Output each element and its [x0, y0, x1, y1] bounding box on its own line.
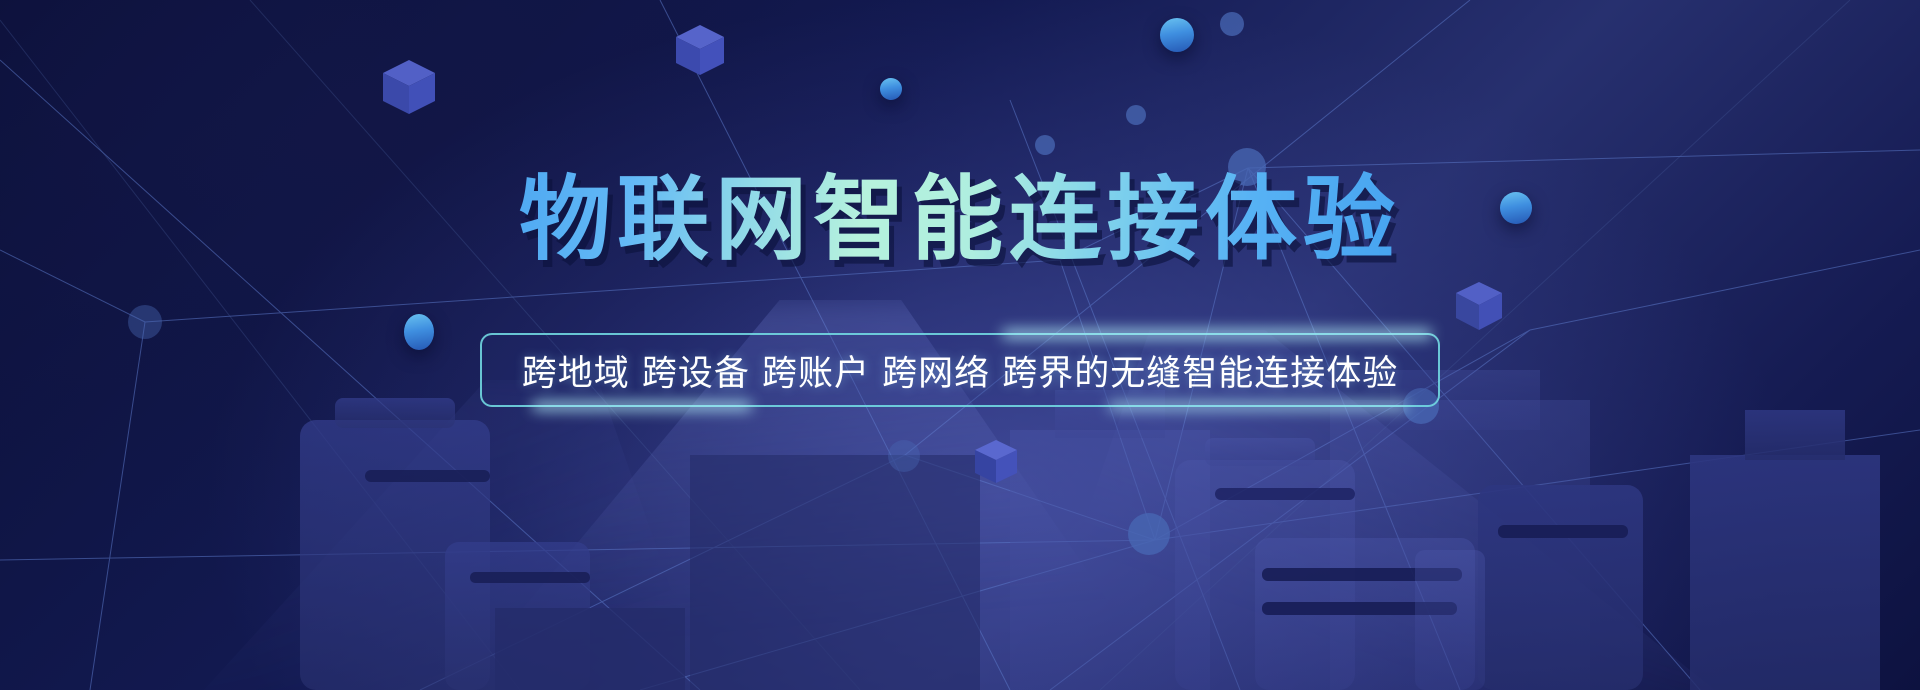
network-node-2 — [1220, 12, 1244, 36]
network-node-3 — [1126, 105, 1146, 125]
glow-sphere-1 — [1160, 18, 1194, 52]
subtitle-text: 跨地域 跨设备 跨账户 跨网络 跨界的无缝智能连接体验 — [522, 345, 1399, 396]
cube-icon-center — [975, 440, 1017, 488]
network-node-6 — [1128, 513, 1170, 555]
subtitle-box: 跨地域 跨设备 跨账户 跨网络 跨界的无缝智能连接体验 — [480, 333, 1440, 407]
cube-icon-left — [383, 60, 435, 120]
network-node-1 — [1228, 148, 1266, 186]
glow-sphere-2 — [880, 78, 902, 100]
cube-icon-right — [1456, 282, 1502, 336]
subtitle-container: 跨地域 跨设备 跨账户 跨网络 跨界的无缝智能连接体验 — [0, 333, 1920, 407]
network-node-8 — [888, 440, 920, 472]
glow-sphere-3 — [1500, 192, 1532, 224]
city-skyline — [0, 360, 1920, 690]
cube-icon-top — [676, 25, 724, 81]
glow-accent-top-right — [1002, 330, 1432, 338]
hero-banner: 物联网智能连接体验 跨地域 跨设备 跨账户 跨网络 跨界的无缝智能连接体验 — [0, 0, 1920, 690]
glow-accent-bottom-right — [1108, 402, 1408, 410]
network-node-5 — [1035, 135, 1055, 155]
glow-accent-bottom-left — [532, 402, 752, 410]
